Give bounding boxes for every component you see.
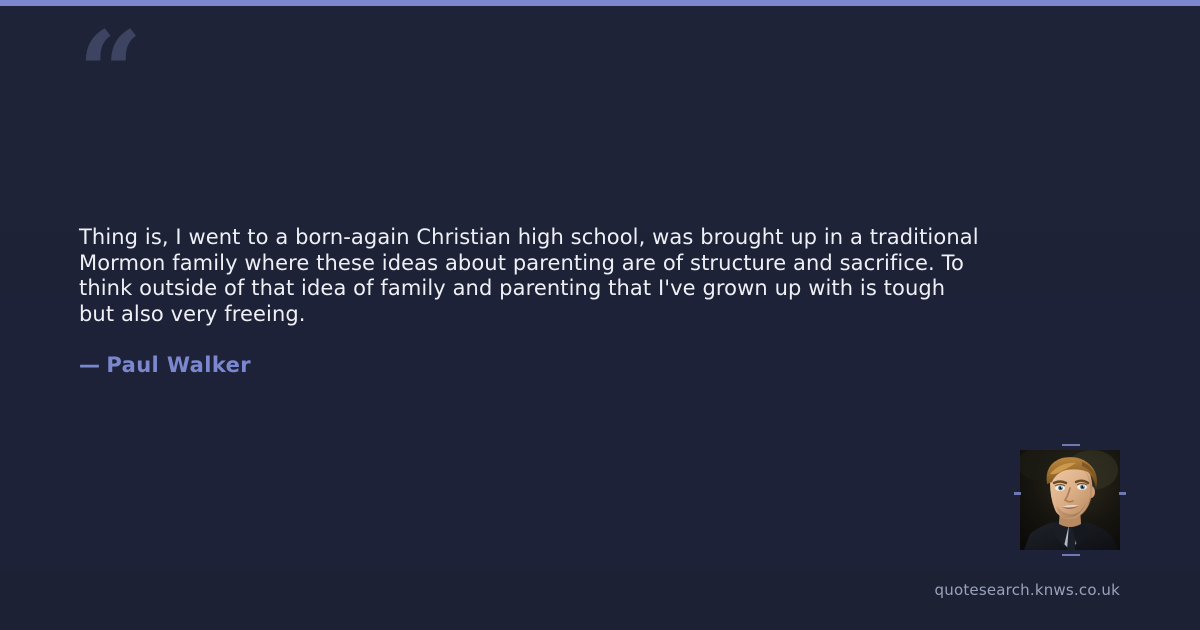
quotation-mark-icon: “ (78, 18, 140, 130)
quote-text: Thing is, I went to a born-again Christi… (79, 225, 979, 327)
quote-card: “ Thing is, I went to a born-again Chris… (0, 0, 1200, 630)
crop-tick-top (1062, 444, 1080, 446)
author-name: Paul Walker (106, 353, 251, 377)
author-portrait (1020, 450, 1120, 550)
site-url: quotesearch.knws.co.uk (935, 581, 1120, 599)
author-portrait-image (1020, 450, 1120, 550)
background-band-footer (0, 570, 1200, 630)
background-band-upper (0, 6, 1200, 232)
crop-tick-left (1014, 492, 1021, 495)
em-dash: — (79, 353, 100, 377)
crop-tick-right (1119, 492, 1126, 495)
crop-tick-bottom (1062, 554, 1080, 556)
accent-top-bar (0, 0, 1200, 6)
quote-attribution: —Paul Walker (79, 353, 251, 377)
